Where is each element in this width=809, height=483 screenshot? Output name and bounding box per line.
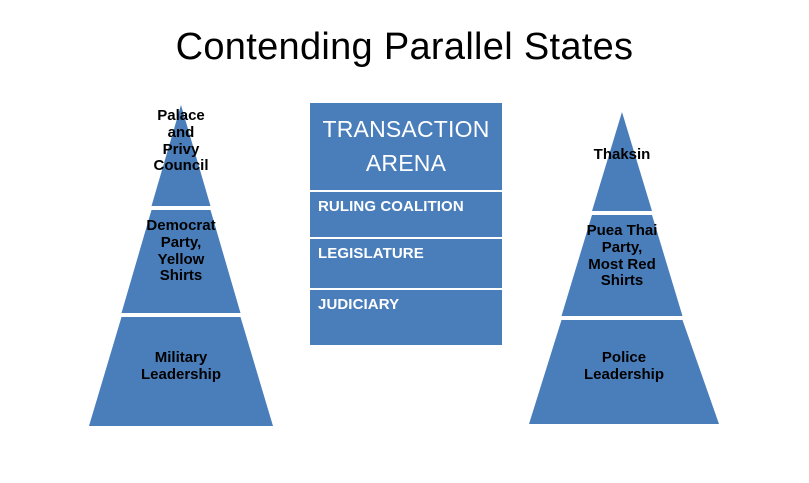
right-pyramid-tier-3-label: Police Leadership: [540, 350, 708, 384]
left-tier-2-line-4: Shirts: [112, 268, 250, 285]
left-tier-1-line-2: and: [120, 125, 242, 142]
right-tier-3-line-2: Leadership: [540, 367, 708, 384]
right-pyramid-tier-2-label: Puea Thai Party, Most Red Shirts: [558, 223, 686, 290]
arena-row-ruling-coalition: RULING COALITION: [310, 192, 502, 237]
right-tier-2-line-3: Most Red: [558, 257, 686, 274]
page-title: Contending Parallel States: [0, 26, 809, 69]
transaction-arena-box: TRANSACTION ARENA RULING COALITION LEGIS…: [310, 103, 502, 345]
left-tier-2-line-3: Yellow: [112, 252, 250, 269]
arena-row-judiciary: JUDICIARY: [310, 290, 502, 345]
right-tier-1-line-1: Thaksin: [562, 147, 682, 164]
arena-header-line-1: TRANSACTION: [322, 113, 489, 146]
left-tier-3-line-2: Leadership: [96, 367, 266, 384]
right-tier-3-line-1: Police: [540, 350, 708, 367]
left-tier-1-line-1: Palace: [120, 108, 242, 125]
right-tier-2-line-2: Party,: [558, 240, 686, 257]
arena-header-line-2: ARENA: [366, 147, 446, 180]
left-tier-3-line-1: Military: [96, 350, 266, 367]
right-tier-2-line-1: Puea Thai: [558, 223, 686, 240]
right-pyramid-tier-1-label: Thaksin: [562, 147, 682, 164]
transaction-arena-header: TRANSACTION ARENA: [310, 103, 502, 190]
left-pyramid-tier-2-label: Democrat Party, Yellow Shirts: [112, 218, 250, 285]
slide-canvas: Contending Parallel States Palace and Pr…: [0, 0, 809, 483]
left-tier-1-line-3: Privy: [120, 142, 242, 159]
left-pyramid-tier-3-label: Military Leadership: [96, 350, 266, 384]
left-tier-1-line-4: Council: [120, 158, 242, 175]
left-pyramid-tier-1-label: Palace and Privy Council: [120, 108, 242, 175]
left-tier-2-line-1: Democrat: [112, 218, 250, 235]
arena-row-legislature: LEGISLATURE: [310, 239, 502, 288]
left-tier-2-line-2: Party,: [112, 235, 250, 252]
right-tier-2-line-4: Shirts: [558, 273, 686, 290]
